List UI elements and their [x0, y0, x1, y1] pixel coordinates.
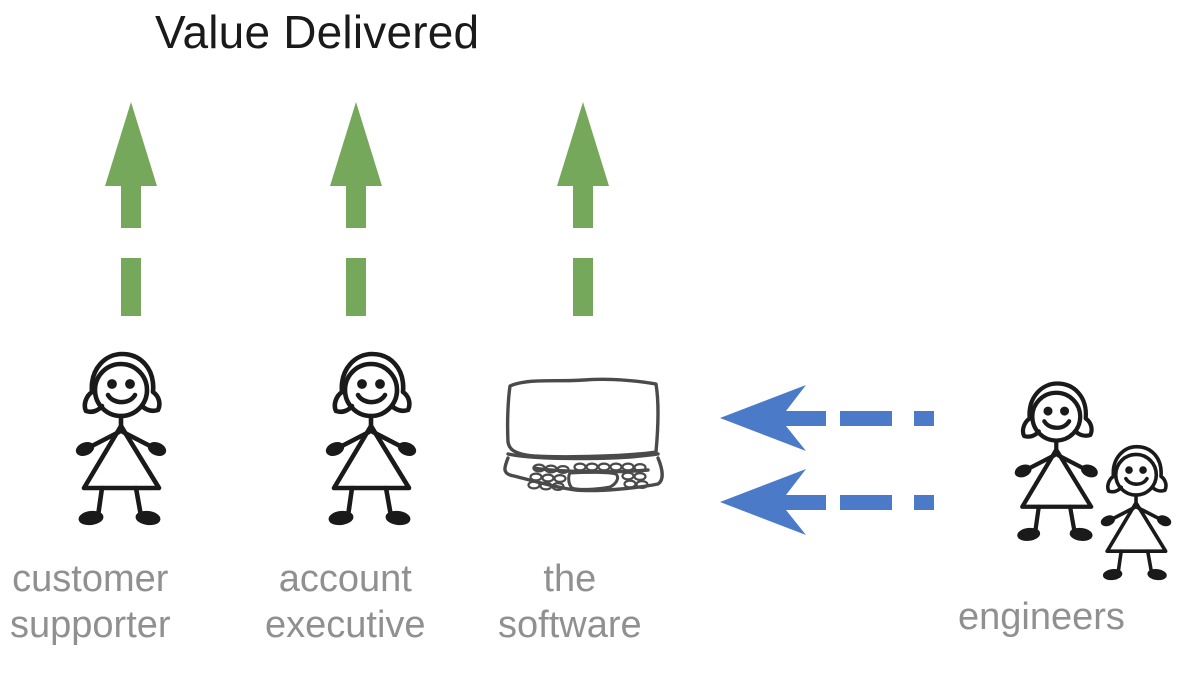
- stick-figure-engineer-2: [1090, 442, 1182, 581]
- label-the-software: the software: [498, 556, 642, 648]
- label-customer-supporter: customer supporter: [10, 556, 171, 648]
- label-account-executive: account executive: [265, 556, 426, 648]
- stick-figure-account-executive: [312, 348, 430, 526]
- value-arrow-customer-supporter: [103, 100, 159, 330]
- stick-figure-customer-supporter: [62, 348, 180, 526]
- diagram-canvas: Value Delivered: [0, 0, 1200, 690]
- page-title: Value Delivered: [155, 4, 479, 60]
- value-arrow-the-software: [555, 100, 611, 330]
- label-account-executive-line1: account: [279, 558, 412, 600]
- feedback-arrow-bottom: [718, 467, 968, 537]
- label-customer-supporter-line1: customer: [12, 558, 168, 600]
- value-arrow-account-executive: [328, 100, 384, 330]
- label-the-software-line1: the: [543, 558, 596, 600]
- laptop-icon: [498, 372, 670, 494]
- label-the-software-line2: software: [498, 602, 642, 648]
- label-customer-supporter-line2: supporter: [10, 602, 171, 648]
- label-account-executive-line2: executive: [265, 602, 426, 648]
- feedback-arrow-top: [718, 383, 968, 453]
- label-engineers-line1: engineers: [958, 596, 1125, 638]
- label-engineers: engineers: [958, 594, 1125, 640]
